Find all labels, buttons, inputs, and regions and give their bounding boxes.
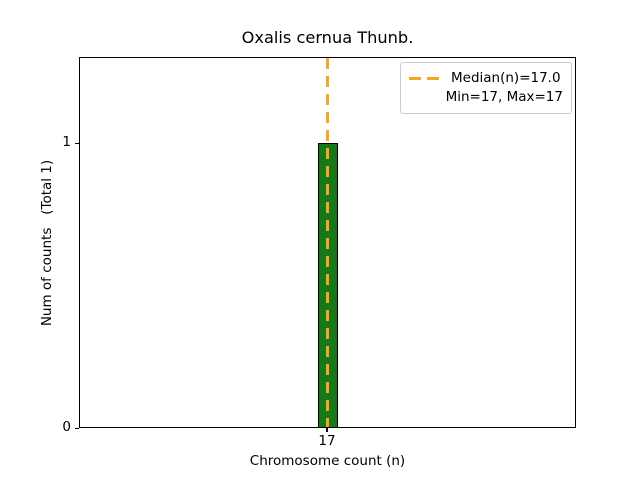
xtick-mark-17 [326,428,327,432]
ytick-mark-1 [75,143,79,144]
y-axis-label: Num of counts (Total 1) [39,43,55,443]
legend-entry-minmax: Min=17, Max=17 [409,88,563,107]
figure-canvas: Oxalis cernua Thunb. 0 1 17 Chromosome c… [0,0,640,480]
dashed-line-icon [409,69,443,88]
legend-label-minmax: Min=17, Max=17 [409,88,563,107]
ytick-mark-0 [75,428,79,429]
ytick-label-1: 1 [62,135,71,150]
legend-entry-median: Median(n)=17.0 [409,69,563,88]
chart-title: Oxalis cernua Thunb. [79,28,576,47]
median-line [326,58,329,428]
xtick-label-17: 17 [318,434,335,449]
x-axis-label: Chromosome count (n) [79,453,576,469]
ytick-label-0: 0 [62,420,71,435]
legend-label-median: Median(n)=17.0 [451,69,561,88]
legend: Median(n)=17.0 Min=17, Max=17 [400,62,572,114]
